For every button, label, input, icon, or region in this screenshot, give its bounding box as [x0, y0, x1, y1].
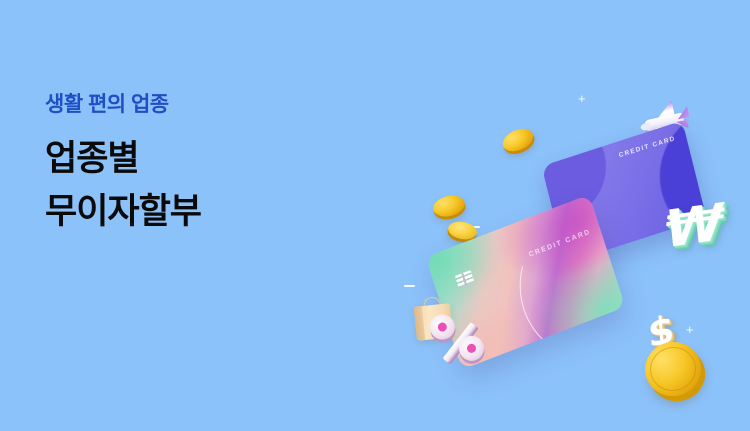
banner-eyebrow: 생활 편의 업종	[45, 92, 201, 117]
sparkle-plus-top: +	[578, 92, 586, 105]
won-glyph: ₩	[661, 195, 734, 256]
coin-mid-upper	[431, 192, 467, 219]
percent-symbol	[423, 303, 493, 373]
purple-card-label: CREDIT CARD	[618, 135, 676, 159]
banner-headline-line2: 무이자할부	[45, 186, 201, 239]
won-symbol: ₩	[662, 197, 732, 263]
promo-banner: 생활 편의 업종 업종별 무이자할부 + + CREDIT CARD	[0, 0, 750, 431]
coin-top	[499, 124, 536, 155]
banner-illustration: + + CREDIT CARD ₩ CREDIT	[390, 80, 750, 431]
banner-copy: 생활 편의 업종 업종별 무이자할부	[45, 92, 201, 238]
percent-ring-upper	[428, 313, 457, 342]
sparkle-dash-left	[404, 285, 415, 287]
banner-headline-line1: 업종별	[45, 133, 201, 186]
